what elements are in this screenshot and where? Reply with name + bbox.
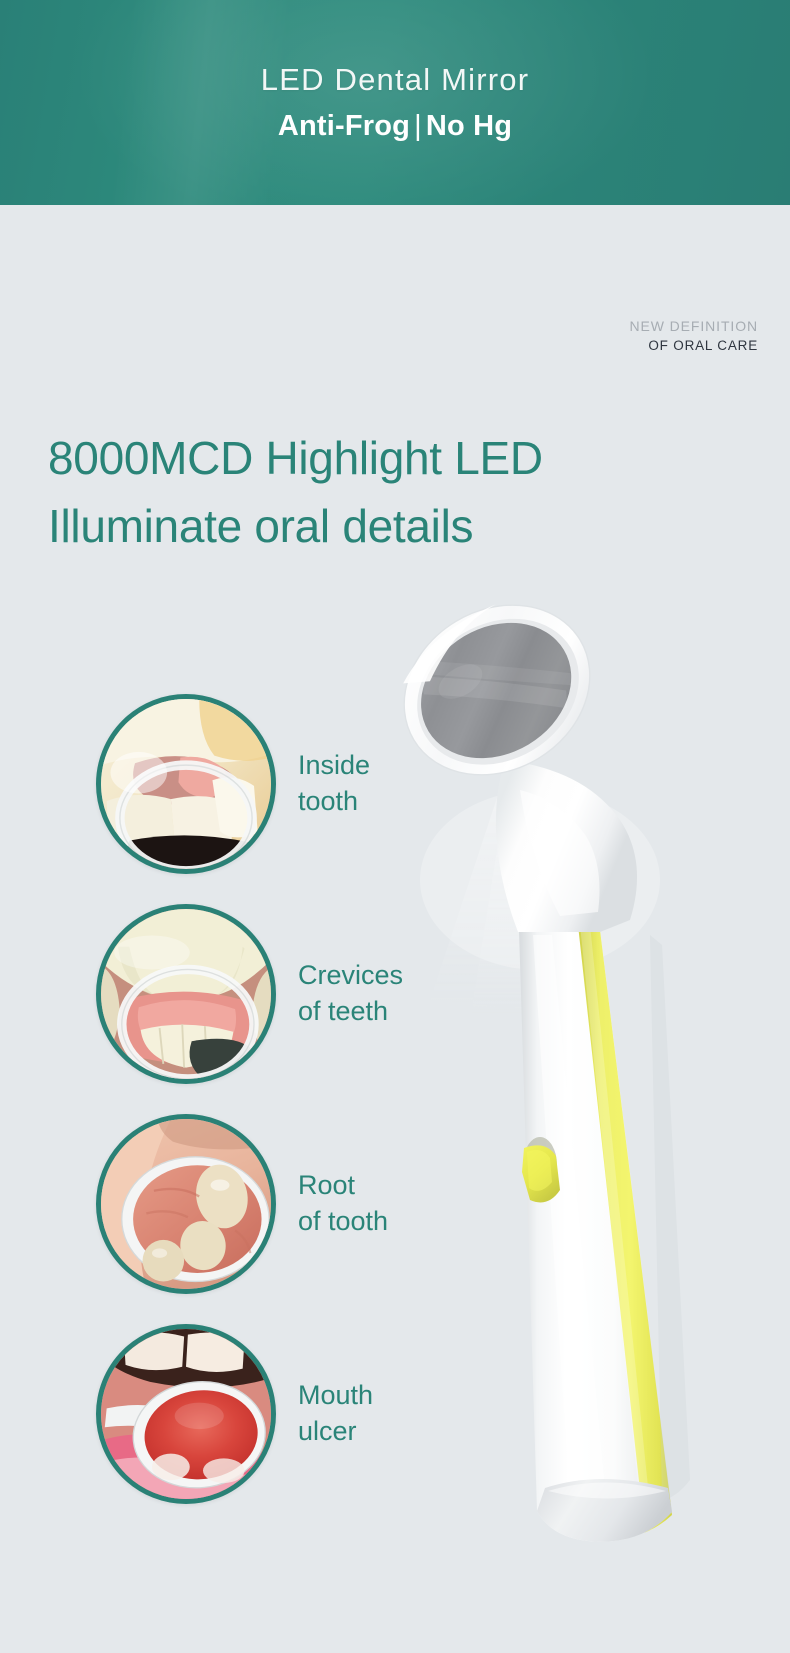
feature-label-line-1: Crevices <box>298 958 403 994</box>
mouth-ulcer-photo <box>96 1324 276 1504</box>
header-banner: LED Dental Mirror Anti-Frog|No Hg <box>0 0 790 205</box>
feature-list: Inside tooth <box>0 0 790 1648</box>
banner-title: LED Dental Mirror <box>261 64 529 95</box>
feature-label-line-1: Inside <box>298 748 370 784</box>
banner-subtitle-right: No Hg <box>426 110 512 142</box>
feature-item-crevices-of-teeth: Crevices of teeth <box>96 904 403 1084</box>
feature-label-crevices-of-teeth: Crevices of teeth <box>298 958 403 1029</box>
feature-label-line-1: Root <box>298 1168 388 1204</box>
root-of-tooth-illustration <box>101 1119 271 1289</box>
feature-item-mouth-ulcer: Mouth ulcer <box>96 1324 373 1504</box>
feature-label-inside-tooth: Inside tooth <box>298 748 370 819</box>
feature-label-line-2: of teeth <box>298 994 403 1030</box>
crevices-of-teeth-illustration <box>101 909 271 1079</box>
crevices-of-teeth-photo <box>96 904 276 1084</box>
feature-label-line-2: tooth <box>298 784 370 820</box>
feature-label-mouth-ulcer: Mouth ulcer <box>298 1378 373 1449</box>
feature-item-inside-tooth: Inside tooth <box>96 694 370 874</box>
inside-tooth-illustration <box>101 699 271 869</box>
feature-label-line-2: of tooth <box>298 1204 388 1240</box>
root-of-tooth-photo <box>96 1114 276 1294</box>
feature-label-line-2: ulcer <box>298 1414 373 1450</box>
inside-tooth-photo <box>96 694 276 874</box>
feature-label-line-1: Mouth <box>298 1378 373 1414</box>
banner-subtitle-divider: | <box>410 110 426 142</box>
banner-subtitle-left: Anti-Frog <box>278 110 410 142</box>
feature-label-root-of-tooth: Root of tooth <box>298 1168 388 1239</box>
banner-subtitle: Anti-Frog|No Hg <box>278 112 512 141</box>
mouth-ulcer-illustration <box>101 1329 271 1499</box>
feature-item-root-of-tooth: Root of tooth <box>96 1114 388 1294</box>
